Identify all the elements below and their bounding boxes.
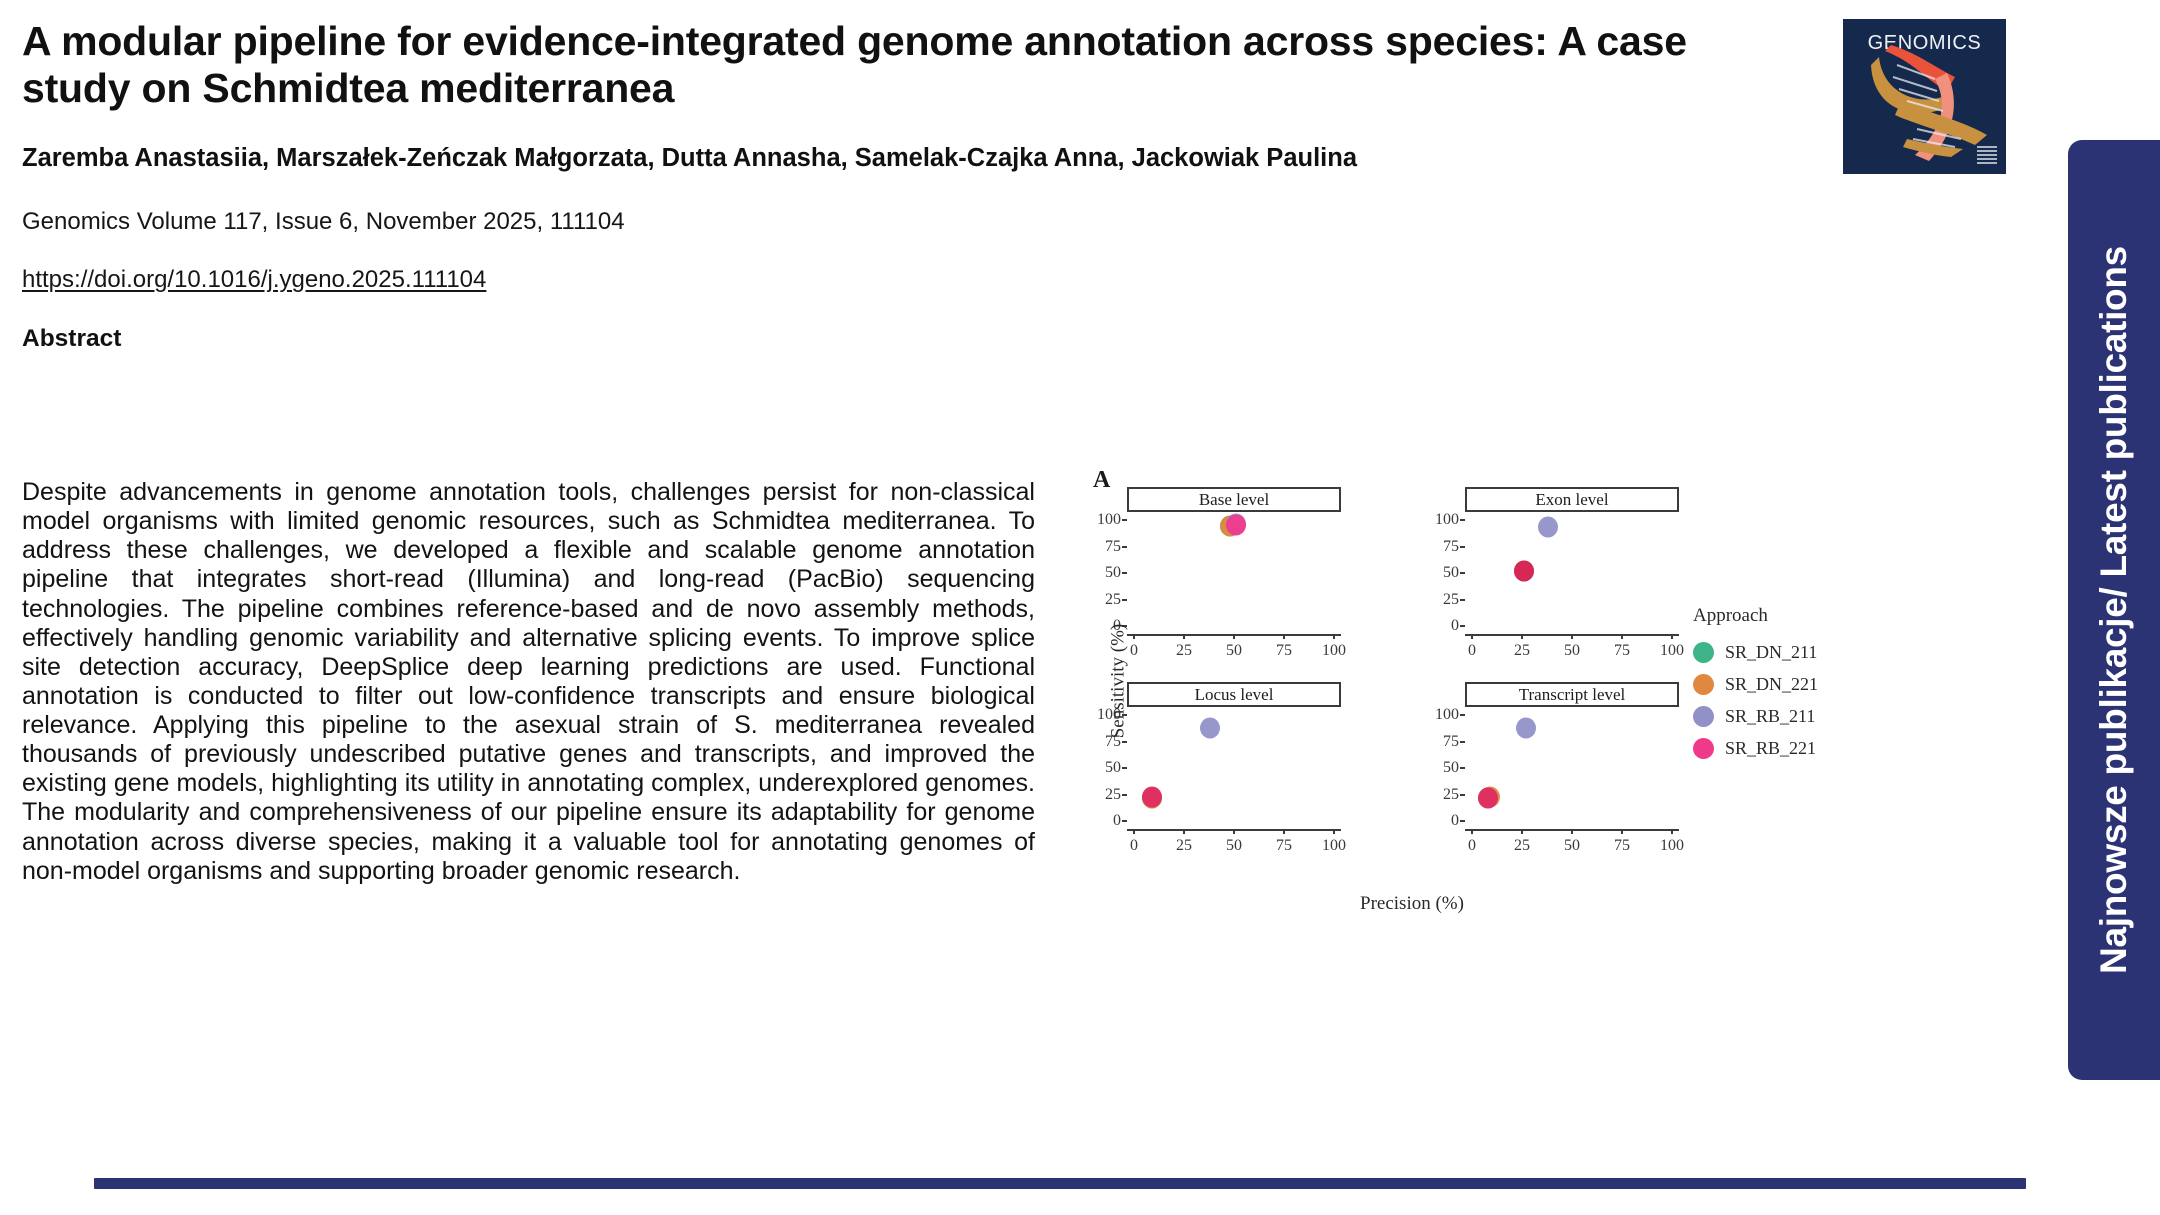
x-tick-row: 0255075100 [1127, 829, 1341, 859]
x-tick-mark [1133, 829, 1135, 834]
x-tick-label: 50 [1564, 642, 1580, 660]
x-tick-label: 25 [1176, 837, 1192, 855]
legend-item[interactable]: SR_DN_221 [1693, 668, 1853, 700]
author-list: Zaremba Anastasiia, Marszałek-Zeńczak Ma… [22, 141, 1602, 176]
y-tick-label: 0 [1451, 812, 1459, 830]
x-tick-label: 0 [1130, 837, 1138, 855]
x-tick-mark [1521, 634, 1523, 639]
y-tick-mark [1122, 599, 1127, 601]
legend-rows: SR_DN_211SR_DN_221SR_RB_211SR_RB_221 [1693, 636, 1853, 764]
data-point [1516, 717, 1536, 738]
latest-publications-tab[interactable]: Najnowsze publikacje/ Latest publication… [2068, 140, 2160, 1080]
y-tick-label: 75 [1105, 538, 1121, 556]
data-point [1538, 517, 1558, 538]
x-tick-mark [1621, 634, 1623, 639]
x-tick-row: 0255075100 [1127, 634, 1341, 664]
y-tick-label: 50 [1443, 759, 1459, 777]
x-tick-label: 25 [1176, 642, 1192, 660]
section-divider [94, 1178, 2026, 1189]
facet-panel: Exon level02550751000255075100 [1423, 487, 1679, 672]
y-tick-label: 25 [1443, 591, 1459, 609]
x-tick-label: 100 [1322, 837, 1346, 855]
data-point [1200, 717, 1220, 738]
y-tick-label: 100 [1435, 511, 1459, 529]
x-tick-label: 0 [1468, 837, 1476, 855]
y-tick-mark [1460, 714, 1465, 716]
latest-publications-tab-label: Najnowsze publikacje/ Latest publication… [2093, 246, 2135, 974]
x-tick-mark [1671, 829, 1673, 834]
x-tick-mark [1133, 634, 1135, 639]
x-tick-mark [1233, 634, 1235, 639]
x-tick-mark [1283, 829, 1285, 834]
facet-title: Exon level [1465, 487, 1679, 512]
legend-item[interactable]: SR_DN_211 [1693, 636, 1853, 668]
y-tick-mark [1460, 572, 1465, 574]
data-point [1226, 515, 1246, 536]
y-tick-mark [1460, 599, 1465, 601]
y-tick-label: 75 [1443, 538, 1459, 556]
x-tick-label: 75 [1276, 837, 1292, 855]
x-tick-label: 75 [1614, 837, 1630, 855]
x-tick-mark [1471, 634, 1473, 639]
figure-precision-sensitivity: A Base level02550751000255075100Exon lev… [1085, 455, 1845, 945]
abstract-heading: Abstract [22, 325, 1832, 353]
x-tick-label: 75 [1276, 642, 1292, 660]
y-tick-mark [1460, 625, 1465, 627]
plot-area: 0255075100 [1127, 707, 1341, 829]
chart-legend: Approach SR_DN_211SR_DN_221SR_RB_211SR_R… [1693, 605, 1853, 764]
y-tick-mark [1460, 519, 1465, 521]
facet-panel: Transcript level02550751000255075100 [1423, 682, 1679, 867]
y-tick-mark [1122, 519, 1127, 521]
y-tick-label: 0 [1451, 617, 1459, 635]
data-point [1514, 560, 1534, 581]
x-tick-label: 100 [1660, 837, 1684, 855]
y-tick-label: 100 [1435, 706, 1459, 724]
plot-area: 0255075100 [1465, 707, 1679, 829]
y-tick-label: 100 [1097, 511, 1121, 529]
legend-swatch-icon [1693, 642, 1714, 663]
legend-swatch-icon [1693, 738, 1714, 759]
y-tick-mark [1122, 767, 1127, 769]
legend-label: SR_DN_221 [1725, 674, 1818, 695]
y-tick-label: 25 [1443, 786, 1459, 804]
y-tick-mark [1122, 741, 1127, 743]
x-tick-label: 50 [1226, 837, 1242, 855]
legend-item[interactable]: SR_RB_211 [1693, 700, 1853, 732]
legend-label: SR_DN_211 [1725, 642, 1817, 663]
x-tick-label: 75 [1614, 642, 1630, 660]
y-tick-mark [1122, 794, 1127, 796]
x-tick-label: 100 [1660, 642, 1684, 660]
y-tick-label: 25 [1105, 591, 1121, 609]
doi-link[interactable]: https://doi.org/10.1016/j.ygeno.2025.111… [22, 264, 486, 295]
legend-swatch-icon [1693, 706, 1714, 727]
x-tick-label: 0 [1468, 642, 1476, 660]
x-tick-mark [1283, 634, 1285, 639]
x-tick-mark [1183, 829, 1185, 834]
y-tick-mark [1460, 546, 1465, 548]
x-tick-mark [1233, 829, 1235, 834]
x-tick-mark [1671, 634, 1673, 639]
y-tick-mark [1460, 820, 1465, 822]
data-point [1142, 786, 1162, 807]
legend-title: Approach [1693, 605, 1853, 627]
x-tick-label: 100 [1322, 642, 1346, 660]
journal-cover-image[interactable]: GENOMICS [1843, 19, 2006, 174]
x-tick-mark [1333, 634, 1335, 639]
x-tick-row: 0255075100 [1465, 829, 1679, 859]
plot-area: 0255075100 [1127, 512, 1341, 634]
x-tick-mark [1333, 829, 1335, 834]
x-tick-mark [1183, 634, 1185, 639]
y-tick-mark [1122, 572, 1127, 574]
plot-area: 0255075100 [1465, 512, 1679, 634]
publisher-logo-icon [1977, 146, 1997, 166]
y-tick-mark [1122, 820, 1127, 822]
y-tick-label: 50 [1105, 564, 1121, 582]
y-tick-label: 50 [1105, 759, 1121, 777]
y-tick-label: 75 [1443, 733, 1459, 751]
y-tick-label: 25 [1105, 786, 1121, 804]
x-tick-label: 25 [1514, 837, 1530, 855]
x-tick-label: 0 [1130, 642, 1138, 660]
x-tick-label: 25 [1514, 642, 1530, 660]
y-tick-mark [1460, 741, 1465, 743]
data-point [1478, 787, 1498, 808]
legend-item[interactable]: SR_RB_221 [1693, 732, 1853, 764]
y-tick-mark [1460, 794, 1465, 796]
x-tick-mark [1571, 829, 1573, 834]
y-tick-mark [1122, 546, 1127, 548]
facet-title: Locus level [1127, 682, 1341, 707]
x-tick-mark [1621, 829, 1623, 834]
y-axis-title: Sensitivity (%) [1107, 624, 1129, 739]
x-tick-label: 50 [1226, 642, 1242, 660]
facet-title: Transcript level [1465, 682, 1679, 707]
x-tick-row: 0255075100 [1465, 634, 1679, 664]
legend-label: SR_RB_211 [1725, 706, 1815, 727]
abstract-body: Despite advancements in genome annotatio… [22, 478, 1035, 886]
journal-reference: Genomics Volume 117, Issue 6, November 2… [22, 206, 1832, 237]
x-axis-title: Precision (%) [1127, 893, 1697, 915]
y-tick-mark [1460, 767, 1465, 769]
y-tick-label: 50 [1443, 564, 1459, 582]
page-title: A modular pipeline for evidence-integrat… [22, 18, 1702, 111]
x-tick-label: 50 [1564, 837, 1580, 855]
legend-swatch-icon [1693, 674, 1714, 695]
legend-label: SR_RB_221 [1725, 738, 1816, 759]
facet-title: Base level [1127, 487, 1341, 512]
x-tick-mark [1471, 829, 1473, 834]
x-tick-mark [1521, 829, 1523, 834]
y-tick-label: 0 [1113, 812, 1121, 830]
x-tick-mark [1571, 634, 1573, 639]
